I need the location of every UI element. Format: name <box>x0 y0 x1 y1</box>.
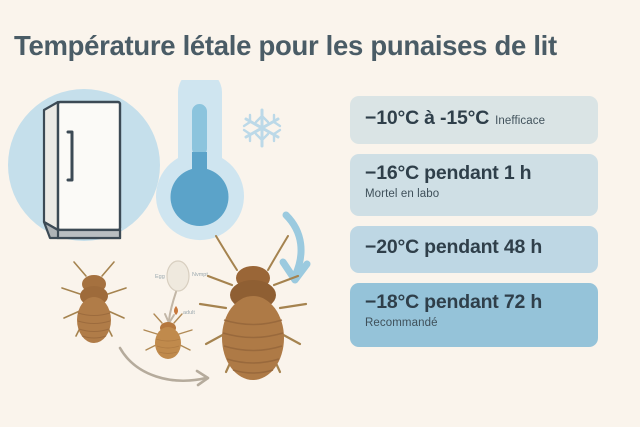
label-adult: adult <box>183 310 195 316</box>
temperature-card-48h[interactable]: −20°C pendant 48 h <box>350 226 598 273</box>
card-main-value: −10°C à -15°C <box>365 107 489 129</box>
label-egg: Egg <box>155 274 165 280</box>
card-main-value: −18°C pendant 72 h <box>365 291 542 313</box>
temperature-card-list: −10°C à -15°CInefficace −16°C pendant 1 … <box>350 96 598 357</box>
infographic-root: Température létale pour les punaises de … <box>0 0 640 427</box>
temperature-card-recommended[interactable]: −18°C pendant 72 h Recommandé <box>350 283 598 347</box>
bed-bug-lifecycle-group: Egg Nvmpt adult <box>62 236 306 385</box>
bedbug-egg <box>167 261 189 291</box>
temperature-card-ineffective[interactable]: −10°C à -15°CInefficace <box>350 96 598 144</box>
temperature-card-lab-lethal[interactable]: −16°C pendant 1 h Mortel en labo <box>350 154 598 216</box>
card-sub-label: Recommandé <box>365 317 584 330</box>
snowflake-icon <box>244 110 280 146</box>
refrigerator-freezer-icon <box>44 102 120 238</box>
page-title: Température létale pour les punaises de … <box>14 30 630 62</box>
label-nymph: Nvmpt <box>192 272 208 278</box>
card-sub-label: Mortel en labo <box>365 188 584 201</box>
thermometer-cold-icon <box>156 80 244 240</box>
card-sub-label: Inefficace <box>495 115 545 127</box>
bed-bug-medium <box>62 262 126 343</box>
curved-down-arrow-icon <box>283 215 307 280</box>
bed-bug-adult <box>200 236 306 380</box>
card-main-value: −20°C pendant 48 h <box>365 236 542 258</box>
illustration-panel: Egg Nvmpt adult <box>0 80 340 410</box>
card-main-value: −16°C pendant 1 h <box>365 162 531 184</box>
